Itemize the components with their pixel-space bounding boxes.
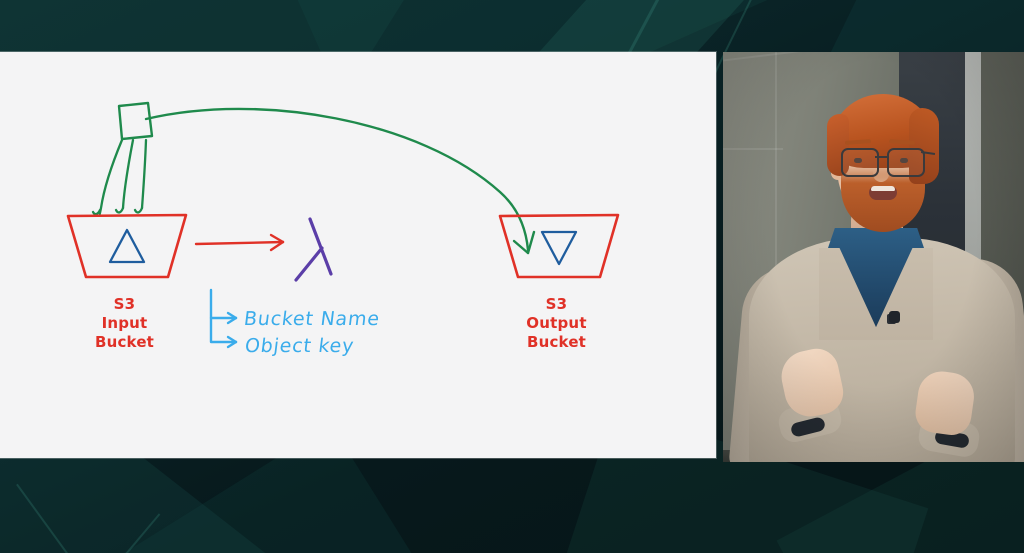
presenter-teeth [871,186,895,191]
annotation-object-key: Object key [244,335,356,357]
architecture-sketch-svg [0,52,716,458]
glasses-lens-left-icon [841,148,879,177]
s3-output-bucket-label: S3 Output Bucket [494,295,619,352]
wall-seam [723,148,783,150]
background-accent-line [82,513,161,553]
annotation-bracket-icon [211,290,236,347]
background-accent-line [16,484,106,553]
trigger-arrow-icon [196,235,283,250]
presenter-video-panel [723,52,1024,462]
annotation-bucket-name: Bucket Name [243,308,382,330]
s3-input-bucket-label: S3 Input Bucket [62,295,187,352]
event-box-icon [119,103,152,139]
glasses-lens-right-icon [887,148,925,177]
write-arrow-icon [146,109,534,253]
lapel-microphone-icon [889,311,900,323]
s3-input-bucket-icon [68,215,186,277]
lambda-symbol-icon [296,219,331,280]
event-hook-strokes-icon [93,140,146,214]
glasses-bridge-icon [875,156,887,158]
whiteboard-diagram: S3 Input Bucket S3 Output Bucket Bucket … [0,52,716,458]
s3-output-bucket-icon [500,215,618,277]
slide-stage: S3 Input Bucket S3 Output Bucket Bucket … [0,0,1024,553]
